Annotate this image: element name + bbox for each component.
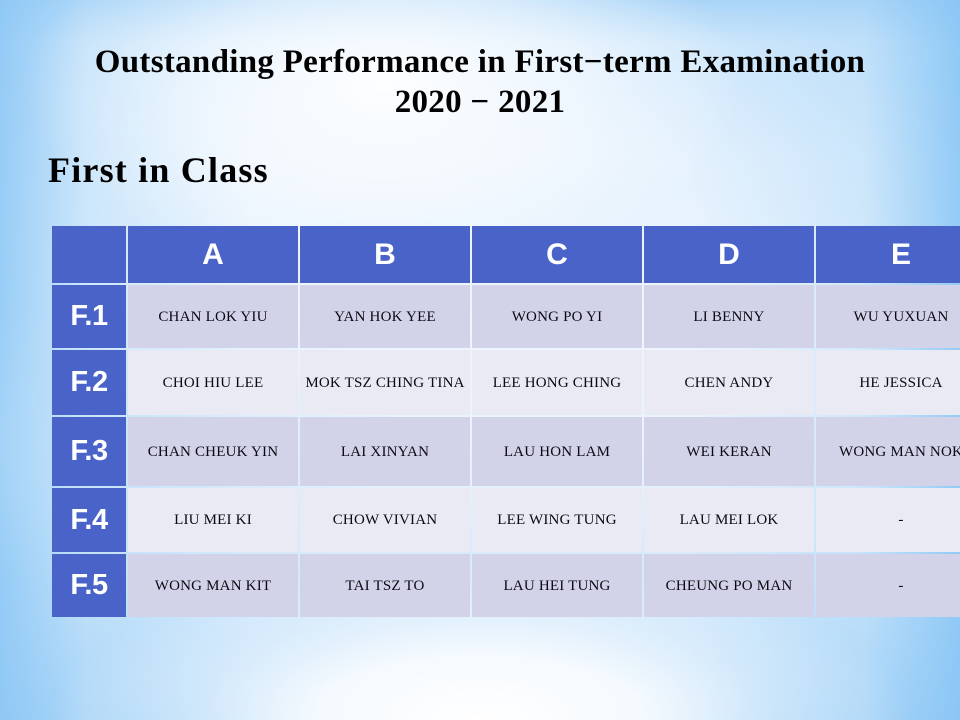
cell-f2-c: LEE HONG CHING [472,350,642,415]
column-header-b: B [300,226,470,283]
slide-canvas: Outstanding Performance in First−term Ex… [0,0,960,720]
subtitle-text: First in Class [48,148,269,192]
cell-f5-a: WONG MAN KIT [128,554,298,617]
column-header-d: D [644,226,814,283]
cell-f4-b: CHOW VIVIAN [300,488,470,552]
column-header-a: A [128,226,298,283]
table-row: F.4 LIU MEI KI CHOW VIVIAN LEE WING TUNG… [52,488,960,552]
cell-f3-c: LAU HON LAM [472,417,642,486]
first-in-class-table: A B C D E F.1 CHAN LOK YIU YAN HOK YEE W… [50,224,960,619]
cell-f1-b: YAN HOK YEE [300,285,470,348]
slide-title: Outstanding Performance in First−term Ex… [0,42,960,122]
cell-f1-c: WONG PO YI [472,285,642,348]
cell-f1-d: LI BENNY [644,285,814,348]
cell-f5-d: CHEUNG PO MAN [644,554,814,617]
cell-f3-a: CHAN CHEUK YIN [128,417,298,486]
cell-f4-a: LIU MEI KI [128,488,298,552]
slide-subtitle: First in Class [48,148,269,192]
cell-f4-e: - [816,488,960,552]
row-label-f5: F.5 [52,554,126,617]
cell-f2-b: MOK TSZ CHING TINA [300,350,470,415]
title-line-1: Outstanding Performance in First−term Ex… [0,42,960,82]
cell-f5-c: LAU HEI TUNG [472,554,642,617]
table-row: F.1 CHAN LOK YIU YAN HOK YEE WONG PO YI … [52,285,960,348]
cell-f1-a: CHAN LOK YIU [128,285,298,348]
column-header-c: C [472,226,642,283]
cell-f5-b: TAI TSZ TO [300,554,470,617]
row-label-f2: F.2 [52,350,126,415]
table-corner-cell [52,226,126,283]
cell-f3-d: WEI KERAN [644,417,814,486]
table-row: F.3 CHAN CHEUK YIN LAI XINYAN LAU HON LA… [52,417,960,486]
title-line-2: 2020 − 2021 [0,82,960,122]
row-label-f4: F.4 [52,488,126,552]
table-row: F.5 WONG MAN KIT TAI TSZ TO LAU HEI TUNG… [52,554,960,617]
row-label-f1: F.1 [52,285,126,348]
cell-f1-e: WU YUXUAN [816,285,960,348]
table-row: F.2 CHOI HIU LEE MOK TSZ CHING TINA LEE … [52,350,960,415]
cell-f5-e: - [816,554,960,617]
cell-f3-b: LAI XINYAN [300,417,470,486]
row-label-f3: F.3 [52,417,126,486]
cell-f2-e: HE JESSICA [816,350,960,415]
cell-f2-a: CHOI HIU LEE [128,350,298,415]
cell-f2-d: CHEN ANDY [644,350,814,415]
table-header-row: A B C D E [52,226,960,283]
cell-f3-e: WONG MAN NOK [816,417,960,486]
column-header-e: E [816,226,960,283]
cell-f4-d: LAU MEI LOK [644,488,814,552]
cell-f4-c: LEE WING TUNG [472,488,642,552]
